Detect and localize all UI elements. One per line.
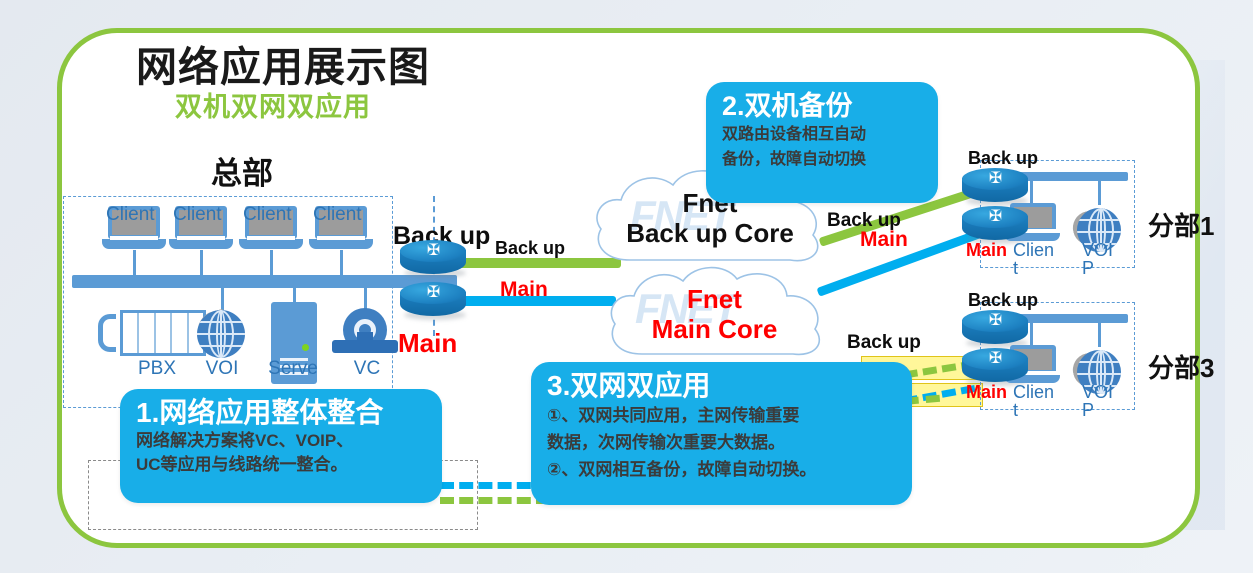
- handset-icon: [98, 314, 116, 352]
- branch-1-title: 分部1: [1148, 206, 1214, 243]
- server-stem: [293, 288, 296, 302]
- client-stem: [133, 250, 136, 276]
- page-subtitle: 双机双网双应用: [175, 85, 371, 124]
- hq-main-router[interactable]: ✠: [400, 282, 466, 322]
- callout-1[interactable]: 1.网络应用整体整合 网络解决方案将VC、VOIP、 UC等应用与线路统一整合。: [120, 389, 442, 503]
- branch-1-backup-router[interactable]: ✠: [962, 168, 1028, 208]
- branch1-main-link-label: Main: [860, 228, 908, 252]
- hq-main-link-label: Main: [500, 278, 548, 302]
- branch-1-client-label-overflow: t: [1013, 258, 1018, 279]
- callout-3-heading: 3.双网双应用: [547, 370, 898, 402]
- laptop-base-icon: [102, 239, 166, 249]
- branch-3-voip-label-overflow: P: [1082, 400, 1094, 421]
- backup-core-line2: Back up Core: [604, 218, 816, 248]
- branch-3-backup-router-label: Back up: [968, 290, 1038, 311]
- client-stem: [270, 250, 273, 276]
- laptop-base-icon: [169, 239, 233, 249]
- branch-1-backup-router-label: Back up: [968, 148, 1038, 169]
- server-label: Serve: [258, 358, 328, 380]
- hq-main-router-label: Main: [398, 328, 457, 359]
- callout-2-body-line-2: 备份，故障自动切换: [722, 147, 924, 172]
- diagram-canvas: 网络应用展示图 双机双网双应用 总部 分部1 分部3 Client Client…: [0, 0, 1253, 573]
- voip-globe-icon[interactable]: [197, 310, 245, 358]
- callout-2-body-line-1: 双路由设备相互自动: [722, 122, 924, 147]
- callout-2[interactable]: 2.双机备份 双路由设备相互自动 备份，故障自动切换: [706, 82, 938, 203]
- branch1-voip-stem: [1098, 181, 1101, 205]
- vc-label: VC: [332, 358, 402, 380]
- callout-3-body-line-1: ①、双网共同应用，主网传输重要: [547, 402, 898, 429]
- client-stem: [200, 250, 203, 276]
- branch-1-client-label: Clien: [1013, 240, 1054, 261]
- callout-2-heading: 2.双机备份: [722, 90, 924, 122]
- callout-3-body-line-2: 数据，次网传输次重要大数据。: [547, 429, 898, 456]
- callout-1-body-line-2: UC等应用与线路统一整合。: [136, 453, 428, 477]
- branch-3-main-router-label: Main: [966, 382, 1007, 403]
- hq-client-label-2: Client: [173, 205, 229, 225]
- main-core-line2: Main Core: [612, 314, 817, 344]
- main-core-label: Fnet Main Core: [612, 284, 817, 344]
- callout-1-heading: 1.网络应用整体整合: [136, 397, 428, 429]
- hq-client-label-1: Client: [106, 205, 162, 225]
- callout-3-body-line-3: ②、双网相互备份，故障自动切换。: [547, 456, 898, 483]
- callout-3[interactable]: 3.双网双应用 ①、双网共同应用，主网传输重要 数据，次网传输次重要大数据。 ②…: [531, 362, 912, 505]
- page-title: 网络应用展示图: [136, 33, 430, 93]
- pbx-label: PBX: [122, 358, 192, 380]
- client-stem: [340, 250, 343, 276]
- hq-backup-link-label: Back up: [495, 238, 565, 259]
- hq-client-label-4: Client: [313, 205, 369, 225]
- branch3-backup-link-label: Back up: [847, 332, 921, 354]
- hq-client-label-3: Client: [243, 205, 299, 225]
- branch-3-title: 分部3: [1148, 348, 1214, 385]
- branch-1-voip-label-overflow: P: [1082, 258, 1094, 279]
- branch-3-client-label: Clien: [1013, 382, 1054, 403]
- branch-3-backup-router[interactable]: ✠: [962, 310, 1028, 350]
- laptop-base-icon: [309, 239, 373, 249]
- bottom-backup-dashline: [440, 497, 550, 504]
- branch1-client-stem: [1030, 181, 1033, 203]
- main-core-line1: Fnet: [612, 284, 817, 314]
- headquarters-title: 总部: [211, 148, 273, 193]
- pbx-body-icon: [120, 310, 206, 356]
- branch-3-client-label-overflow: t: [1013, 400, 1018, 421]
- callout-1-body-line-1: 网络解决方案将VC、VOIP、: [136, 429, 428, 453]
- branch3-voip-stem: [1098, 323, 1101, 347]
- branch3-client-stem: [1030, 323, 1033, 345]
- laptop-base-icon: [239, 239, 303, 249]
- voip-label: VOI: [187, 358, 257, 380]
- hq-backup-router[interactable]: ✠: [400, 240, 466, 280]
- vc-base-icon: [332, 340, 398, 353]
- branch-1-main-router-label: Main: [966, 240, 1007, 261]
